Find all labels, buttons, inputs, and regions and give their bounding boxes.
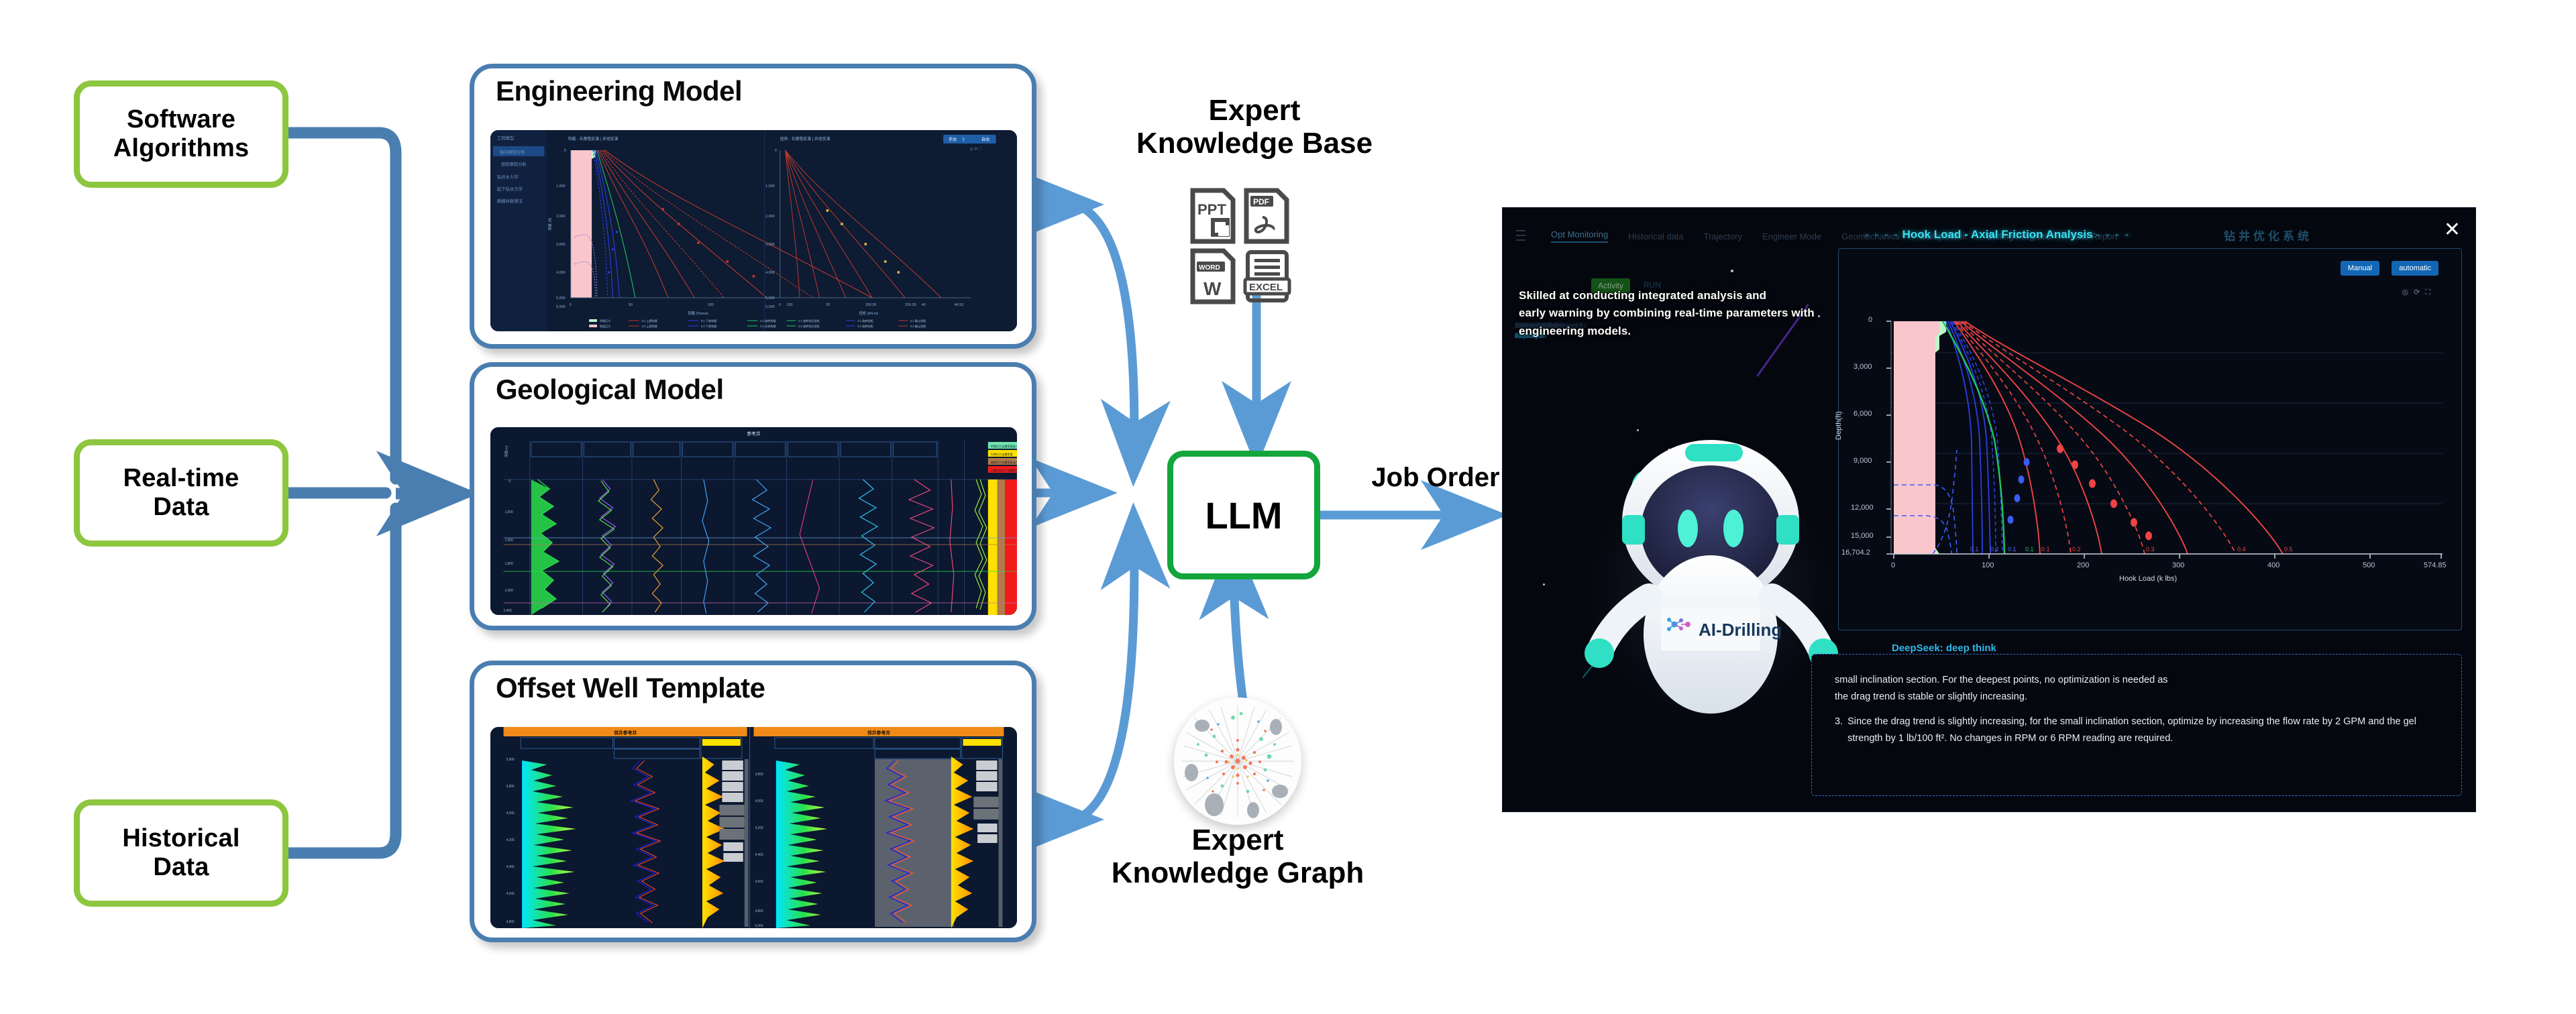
svg-text:3,000: 3,000 [556,243,565,247]
geological-model-card[interactable]: Geological Model 参考井 [470,362,1036,630]
svg-text:30: 30 [872,303,876,307]
svg-text:0: 0 [570,303,572,307]
svg-text:1,000: 1,000 [556,184,565,188]
llm-label: LLM [1205,494,1282,537]
svg-text:0.5: 0.5 [2284,546,2293,553]
svg-text:0.1: 0.1 [2025,546,2034,553]
answer-line-1: small inclination section. For the deepe… [1835,672,2438,689]
deepseek-answer-card[interactable]: small inclination section. For the deepe… [1811,654,2462,796]
nav-tab-historical-data[interactable]: Historical data [1628,231,1683,241]
menu-icon[interactable] [1516,230,1525,241]
svg-text:4,800: 4,800 [506,920,515,924]
title-dash-left: - - - - [1865,228,1899,241]
chart-title: Hook Load - Axial Friction Analysis [1902,228,2093,241]
source-box-software-algorithms[interactable]: Software Algorithms [74,80,288,188]
pdf-icon: PDF [1242,188,1292,244]
svg-text:3,800: 3,800 [755,773,763,777]
svg-text:0.2: 0.2 [1990,546,1999,553]
svg-text:精细井眼清洁: 精细井眼清洁 [497,198,523,204]
svg-text:深度 (ft): 深度 (ft) [547,218,552,231]
close-icon[interactable]: ✕ [2444,220,2461,240]
svg-text:0.3: 0.3 [2146,546,2155,553]
engineering-model-card[interactable]: Engineering Model 工程模型 轴向摩阻分析 扭矩摩阻分析 钻井水… [470,64,1036,349]
svg-text:◎ ⟳ ⛶: ◎ ⟳ ⛶ [969,147,981,152]
svg-text:0.1: 0.1 [2008,546,2017,553]
svg-text:0.1 静止扭矩: 0.1 静止扭矩 [910,319,926,323]
svg-text:0.2 下放钩载: 0.2 下放钩载 [701,324,716,328]
xtick-200: 200 [2077,561,2089,569]
svg-text:4,000: 4,000 [506,811,515,815]
svg-text:WORD: WORD [1199,264,1220,272]
answer-item-text: Since the drag trend is slightly increas… [1847,714,2438,747]
svg-text:深度(m): 深度(m) [504,445,509,457]
y-axis-title: Depth(ft) [1835,411,1843,440]
hook-load-plot: 0.10.2 0.10.1 0.10.2 0.30.4 0.5 [1839,249,2463,631]
svg-text:起下钻水力学: 起下钻水力学 [497,186,523,192]
svg-text:0: 0 [779,303,781,307]
svg-text:5,500: 5,500 [765,305,774,309]
svg-text:0: 0 [508,480,511,484]
svg-text:邻井参考井: 邻井参考井 [867,730,890,736]
source-label: Real-time Data [123,464,239,521]
svg-text:参考井: 参考井 [747,431,761,437]
svg-text:工程模型: 工程模型 [497,135,515,141]
deepseek-answer-title: DeepSeek: deep think [1892,642,1996,654]
offset-well-template-title: Offset Well Template [496,672,765,704]
svg-text:0.1 上提钩载: 0.1 上提钩载 [642,319,657,323]
svg-text:4,000: 4,000 [755,799,763,803]
svg-text:5,500: 5,500 [556,305,565,309]
svg-text:40: 40 [922,303,926,307]
svg-text:自动: 自动 [981,137,989,142]
svg-text:0.2 旋转扭矩: 0.2 旋转扭矩 [858,324,873,328]
svg-text:0: 0 [775,149,777,153]
xtick-0: 0 [1891,561,1895,569]
svg-text:孔隙压力当量密度: 孔隙压力当量密度 [991,452,1013,456]
svg-text:0.2 静止扭矩: 0.2 静止扭矩 [910,324,926,328]
svg-text:20: 20 [826,303,830,307]
svg-text:0.1 旋转钻压扭矩: 0.1 旋转钻压扭矩 [798,319,820,323]
answer-item-number: 3. [1835,714,1843,747]
svg-text:4,400: 4,400 [755,853,763,857]
svg-text:5,000: 5,000 [556,296,565,300]
ppt-icon: PPT [1189,188,1238,244]
robot-mascot: AI-Drilling [1570,409,1851,718]
xtick-100: 100 [1982,561,1994,569]
svg-text:5,000: 5,000 [755,924,763,928]
svg-text:PPT: PPT [1197,201,1226,218]
svg-text:150: 150 [787,303,793,307]
svg-text:2,000: 2,000 [556,215,565,219]
svg-text:3,000: 3,000 [765,243,774,247]
svg-text:1,500: 1,500 [505,539,513,543]
svg-text:2,000: 2,000 [765,215,774,219]
svg-text:扭矩 (kN·m): 扭矩 (kN·m) [859,311,879,316]
svg-text:EXCEL: EXCEL [1249,282,1283,293]
ytick-12000: 12,000 [1851,504,1874,512]
engineering-model-screenshot: 工程模型 轴向摩阻分析 扭矩摩阻分析 钻井水力学 起下钻水力学 精细井眼清洁 钩… [490,130,1017,331]
knowledge-graph-icon [1174,697,1301,825]
svg-text:1,800: 1,800 [505,562,513,566]
svg-text:手动: 手动 [949,137,957,142]
ytick-0: 0 [1868,316,1872,324]
svg-text:坍塌压力当量密度(g/cm³): 坍塌压力当量密度(g/cm³) [991,444,1017,448]
x-axis-title: Hook Load (k lbs) [2119,575,2177,583]
svg-text:钩载 - 右摩阻反演 | 井径反演: 钩载 - 右摩阻反演 | 井径反演 [568,136,619,142]
offset-well-template-screenshot: 邻井参考井 邻井参考井 [490,727,1017,928]
svg-text:0.2 旋转钻压扭矩: 0.2 旋转钻压扭矩 [798,324,820,328]
svg-text:0.1 下放钩载: 0.1 下放钩载 [701,319,716,323]
source-label: Historical Data [122,824,239,881]
xtick-400: 400 [2267,561,2279,569]
answer-numbered-item-3: 3. Since the drag trend is slightly incr… [1835,714,2438,747]
svg-text:轴向摩阻分析: 轴向摩阻分析 [500,149,526,155]
svg-text:100: 100 [708,303,714,307]
svg-text:50: 50 [629,303,633,307]
svg-text:46.52: 46.52 [955,303,963,307]
robot-logo-text: AI-Drilling [1699,620,1782,640]
svg-text:破裂压力当量密度(g/cm³): 破裂压力当量密度(g/cm³) [991,460,1017,464]
svg-text:1,000: 1,000 [765,184,774,188]
svg-text:4,000: 4,000 [765,271,774,275]
svg-text:200: 200 [865,303,871,307]
svg-text:0.1 旋转扭矩: 0.1 旋转扭矩 [858,319,873,323]
nav-tab-trajectory[interactable]: Trajectory [1704,231,1742,241]
svg-text:邻井参考井: 邻井参考井 [613,730,637,736]
svg-text:扭矩 - 右摩阻反演 | 井径反演: 扭矩 - 右摩阻反演 | 井径反演 [780,136,830,142]
svg-text:4,200: 4,200 [755,826,763,830]
svg-text:4,400: 4,400 [506,865,515,869]
nav-tab-opt-monitoring[interactable]: Opt Monitoring [1551,229,1608,243]
svg-text:0.1: 0.1 [2041,546,2050,553]
geological-model-title: Geological Model [496,374,724,406]
diagram-canvas: Software Algorithms Real-time Data Histo… [0,0,2576,1014]
knowledge-base-doc-icons: PPT PDF WORD W [1189,188,1292,304]
svg-text:226.30: 226.30 [905,303,916,307]
source-box-real-time-data[interactable]: Real-time Data [74,439,288,547]
nav-tab-engineer-mode[interactable]: Engineer Mode [1762,231,1821,241]
svg-text:扭矩摩阻分析: 扭矩摩阻分析 [501,161,527,167]
svg-text:5,000: 5,000 [765,296,774,300]
ytick-3000: 3,000 [1854,363,1872,371]
ytick-max: 16,704.2 [1841,549,1870,557]
svg-text:上覆岩层压力当量密度(g/cm³): 上覆岩层压力当量密度(g/cm³) [991,468,1017,472]
svg-text:钻井水力学: 钻井水力学 [497,174,519,180]
expert-knowledge-base-label: Expert Knowledge Base [1087,94,1422,160]
xtick-max: 574.85 [2424,561,2447,569]
svg-text:地层压力: 地层压力 [600,324,610,328]
svg-text:0.1 旋转钩载: 0.1 旋转钩载 [760,319,775,323]
svg-text:2,000: 2,000 [505,589,513,593]
engineering-model-title: Engineering Model [496,75,742,107]
svg-text:1,000: 1,000 [505,510,513,514]
svg-text:4,600: 4,600 [755,880,763,884]
svg-text:4,200: 4,200 [506,838,515,842]
svg-text:PDF: PDF [1253,197,1269,207]
svg-text:0.2 上提钩载: 0.2 上提钩载 [642,324,657,328]
svg-text:0.1 实测钩载: 0.1 实测钩载 [760,324,775,328]
xtick-500: 500 [2363,561,2375,569]
svg-text:钩载 (Tonne): 钩载 (Tonne) [688,311,708,316]
word-icon: WORD W [1189,248,1238,304]
expert-knowledge-graph-label: Expert Knowledge Graph [1070,824,1405,890]
app-cn-title: 钻井优化系统 [2224,227,2312,243]
source-box-historical-data[interactable]: Historical Data [74,799,288,907]
svg-text:0.4: 0.4 [2237,546,2246,553]
title-dash-right: - - - - [2096,228,2130,241]
answer-line-2: the drag trend is stable or slightly inc… [1835,689,2438,706]
svg-text:4,000: 4,000 [556,271,565,275]
ai-drilling-app-window[interactable]: Opt Monitoring Historical data Trajector… [1503,208,2475,811]
xtick-300: 300 [2172,561,2184,569]
ytick-9000: 9,000 [1854,457,1872,465]
svg-text:0.2: 0.2 [2072,546,2081,553]
offset-well-template-card[interactable]: Offset Well Template 邻井参考井 邻井参考井 [470,661,1036,942]
excel-icon: EXCEL [1242,248,1292,304]
source-label: Software Algorithms [113,105,250,162]
hook-load-chart-card[interactable]: Manual automatic ◎⟳⛶ [1838,248,2462,630]
geological-model-screenshot: 参考井 [490,427,1017,615]
svg-text:4,800: 4,800 [755,909,763,913]
svg-text:0.1: 0.1 [1970,546,1979,553]
ytick-6000: 6,000 [1854,410,1872,418]
svg-text:坍塌压力: 坍塌压力 [600,319,610,323]
svg-text:0: 0 [564,149,566,153]
svg-text:4,600: 4,600 [506,892,515,896]
svg-text:3,800: 3,800 [506,785,515,789]
svg-text:W: W [1203,278,1222,299]
llm-box[interactable]: LLM [1167,451,1320,579]
ytick-15000: 15,000 [1851,532,1874,540]
svg-text:3,600: 3,600 [506,758,515,762]
svg-text:2,400: 2,400 [504,609,512,613]
chart-title-wrap: - - - - Hook Load - Axial Friction Analy… [1865,228,2130,241]
